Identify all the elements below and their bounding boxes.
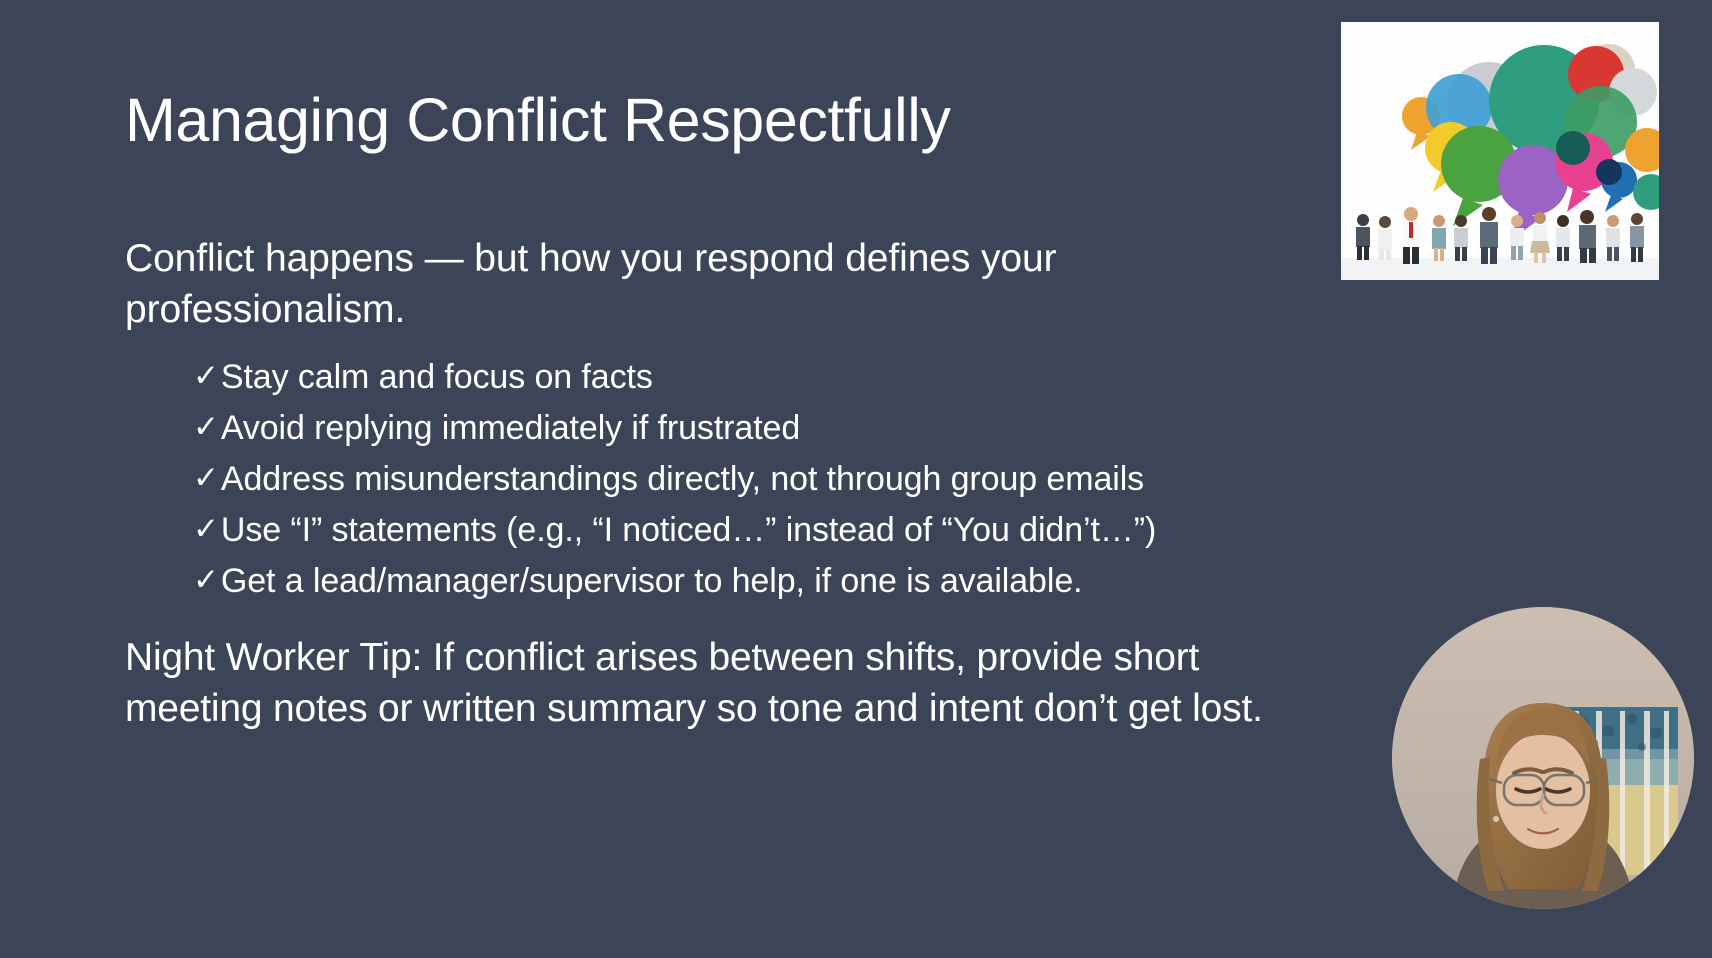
- check-icon: ✓: [193, 403, 219, 451]
- check-icon: ✓: [193, 556, 219, 604]
- night-worker-tip-paragraph: Night Worker Tip: If conflict arises bet…: [125, 633, 1335, 734]
- speech-bubbles-image: [1341, 22, 1659, 280]
- check-icon: ✓: [193, 352, 219, 400]
- list-item: ✓ Avoid replying immediately if frustrat…: [193, 403, 1413, 454]
- list-item-label: Use “I” statements (e.g., “I noticed…” i…: [221, 505, 1156, 556]
- list-item: ✓ Stay calm and focus on facts: [193, 352, 1413, 403]
- check-icon: ✓: [193, 454, 219, 502]
- list-item: ✓ Address misunderstandings directly, no…: [193, 454, 1413, 505]
- slide-title: Managing Conflict Respectfully: [125, 88, 950, 152]
- list-item-label: Avoid replying immediately if frustrated: [221, 403, 800, 454]
- list-item-label: Get a lead/manager/supervisor to help, i…: [221, 556, 1083, 607]
- checklist: ✓ Stay calm and focus on facts ✓ Avoid r…: [193, 352, 1413, 607]
- intro-paragraph: Conflict happens — but how you respond d…: [125, 234, 1305, 335]
- list-item-label: Address misunderstandings directly, not …: [221, 454, 1144, 505]
- list-item: ✓ Use “I” statements (e.g., “I noticed…”…: [193, 505, 1413, 556]
- list-item-label: Stay calm and focus on facts: [221, 352, 653, 403]
- presenter-webcam[interactable]: [1392, 607, 1694, 909]
- check-icon: ✓: [193, 505, 219, 553]
- list-item: ✓ Get a lead/manager/supervisor to help,…: [193, 556, 1413, 607]
- presentation-slide: Managing Conflict Respectfully Conflict …: [0, 0, 1712, 958]
